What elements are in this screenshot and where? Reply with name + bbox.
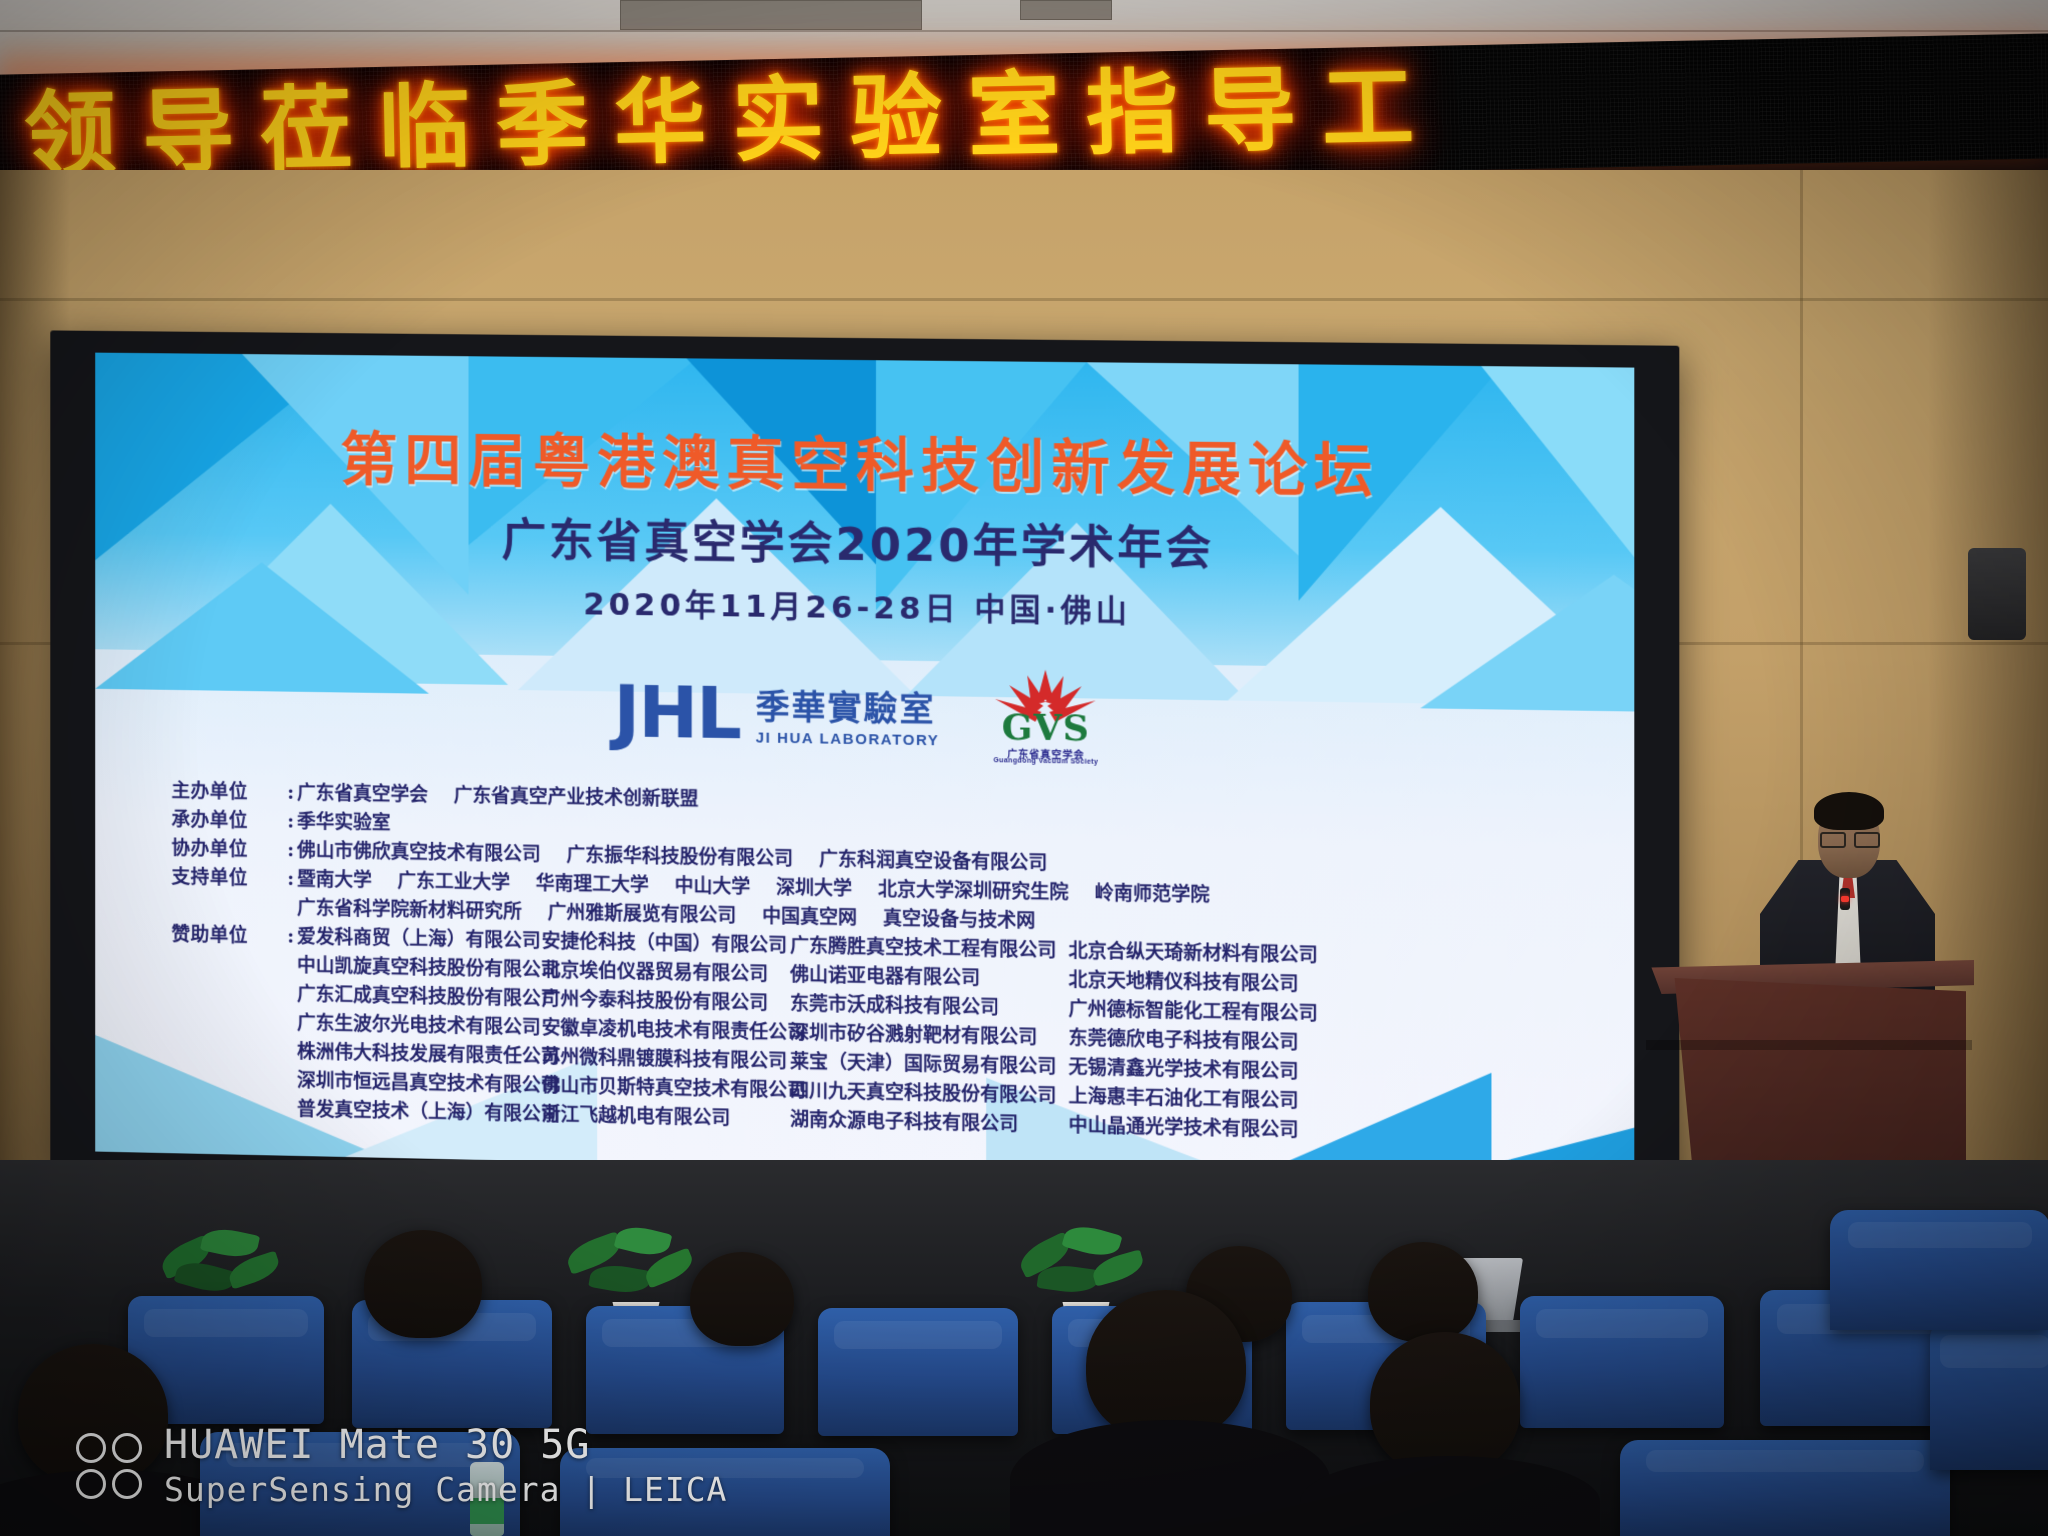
plant-leaves	[150, 1220, 300, 1306]
sponsor-item: 北京天地精仪科技有限公司	[1069, 966, 1321, 1000]
sponsor-row-spacer	[287, 1038, 297, 1067]
sponsor-row-spacer	[287, 1095, 297, 1124]
audience-chair	[818, 1308, 1018, 1436]
credit-label	[171, 892, 287, 923]
sponsor-item: 安捷伦科技（中国）有限公司	[542, 927, 790, 960]
credit-item: 中山大学	[675, 872, 751, 902]
sponsor-row-spacer	[171, 978, 287, 1009]
gvs-logo: GVS 广东省真空学会 Guangdong Vacuum Society	[992, 665, 1101, 771]
ceiling-vent	[620, 0, 922, 30]
sponsor-row-spacer	[287, 1009, 297, 1038]
wall-loudspeaker	[1968, 548, 2026, 640]
ceiling-panel-line	[0, 30, 2048, 32]
plant-leaves	[1010, 1220, 1160, 1306]
credit-item: 广东振华科技股份有限公司	[566, 841, 793, 874]
audience-head	[1368, 1242, 1478, 1342]
conference-room-photo: 领导莅临季华实验室指导工	[0, 0, 2048, 1536]
credit-colon: :	[287, 808, 297, 837]
jhl-logo-mark: JHL	[614, 679, 740, 747]
credit-item: 广州雅斯展览有限公司	[548, 899, 737, 931]
sponsor-item: 中山凯旋真空科技股份有限公司	[297, 952, 542, 985]
credit-item: 佛山市佛欣真空技术有限公司	[297, 837, 541, 870]
podium-lip	[1646, 1040, 1972, 1050]
credit-item: 广东科润真空设备有限公司	[819, 845, 1047, 878]
sponsor-item: 湖南众源电子科技有限公司	[790, 1106, 1068, 1141]
audience-head	[690, 1252, 794, 1346]
credit-item: 华南理工大学	[536, 869, 649, 900]
audience-shoulders	[1010, 1420, 1330, 1536]
credit-label: 主办单位	[171, 777, 287, 808]
credit-colon: :	[287, 779, 297, 808]
watermark-camera: SuperSensing Camera | LEICA	[164, 1470, 727, 1510]
credit-item: 深圳大学	[776, 874, 852, 904]
wall-seam	[0, 298, 2048, 301]
sponsor-item: 浙江飞越机电有限公司	[542, 1100, 790, 1134]
sponsor-row-spacer	[287, 980, 297, 1009]
microphone-led-icon	[1841, 896, 1849, 902]
camera-watermark: HUAWEI Mate 30 5G SuperSensing Camera | …	[76, 1422, 727, 1510]
sponsor-row-spacer	[171, 949, 287, 980]
sponsor-item: 爱发科商贸（上海）有限公司	[297, 923, 542, 956]
credit-label: 支持单位	[171, 863, 287, 894]
quad-camera-icon	[76, 1433, 142, 1499]
sponsor-item: 中山晶通光学技术有限公司	[1069, 1111, 1321, 1145]
speaker-glasses	[1820, 832, 1878, 844]
jhl-logo-english: JI HUA LABORATORY	[756, 729, 940, 749]
jhl-logo-chinese: 季華實驗室	[756, 689, 940, 730]
credit-colon: :	[287, 923, 297, 952]
sponsor-item: 北京合纵天琦新材料有限公司	[1069, 937, 1321, 971]
credit-item: 季华实验室	[297, 808, 391, 838]
speaker-hair	[1814, 792, 1884, 830]
audience-chair	[1520, 1296, 1724, 1428]
sponsor-row-spacer	[171, 1093, 287, 1124]
credit-item: 岭南师范学院	[1095, 879, 1210, 910]
audience-head	[1086, 1290, 1246, 1440]
audience-chair	[1830, 1210, 2048, 1330]
credit-item: 广东工业大学	[397, 867, 510, 898]
audience-head	[364, 1230, 482, 1338]
watermark-text: HUAWEI Mate 30 5G SuperSensing Camera | …	[164, 1422, 727, 1510]
audience-chair	[1620, 1440, 1950, 1536]
sponsor-row-spacer	[171, 1035, 287, 1066]
projection-screen: 第四届粤港澳真空科技创新发展论坛 广东省真空学会2020年学术年会 2020年1…	[95, 353, 1634, 1185]
sponsor-row-spacer	[171, 1064, 287, 1095]
credit-colon: :	[287, 836, 297, 865]
credit-colon	[287, 894, 297, 923]
gvs-logo-letters: GVS	[992, 709, 1101, 747]
credit-colon: :	[287, 865, 297, 894]
credit-item: 广东省科学院新材料研究所	[297, 894, 522, 927]
sponsor-row-spacer	[287, 951, 297, 980]
credit-values: 季华实验室	[297, 808, 391, 838]
credit-item: 暨南大学	[297, 865, 372, 895]
sponsor-item: 北京埃伯仪器贸易有限公司	[542, 956, 790, 990]
watermark-device: HUAWEI Mate 30 5G	[164, 1422, 727, 1468]
audience-head	[1370, 1332, 1520, 1474]
gvs-logo-english: Guangdong Vacuum Society	[992, 757, 1101, 766]
credit-item: 北京大学深圳研究生院	[878, 875, 1069, 907]
credit-item: 广东省真空学会	[297, 779, 428, 810]
slide-credits: 主办单位 : 广东省真空学会 广东省真空产业技术创新联盟 承办单位 : 季华实验…	[171, 777, 1593, 1152]
ceiling-vent	[1020, 0, 1112, 20]
audience-chair	[1930, 1320, 2048, 1470]
projection-screen-frame: 第四届粤港澳真空科技创新发展论坛 广东省真空学会2020年学术年会 2020年1…	[50, 330, 1679, 1211]
credit-label: 协办单位	[171, 834, 287, 865]
credit-item: 广东省真空产业技术创新联盟	[454, 782, 699, 815]
credit-item: 中国真空网	[762, 902, 857, 933]
sponsor-row-spacer	[171, 1007, 287, 1038]
credit-label: 承办单位	[171, 806, 287, 837]
sponsor-item: 普发真空技术（上海）有限公司	[297, 1095, 542, 1129]
plant-leaves	[560, 1220, 710, 1306]
sponsors-label: 赞助单位	[171, 921, 287, 952]
jhl-logo: JHL 季華實驗室 JI HUA LABORATORY	[614, 679, 940, 750]
sponsor-row-spacer	[287, 1066, 297, 1095]
credit-item: 真空设备与技术网	[883, 904, 1035, 936]
